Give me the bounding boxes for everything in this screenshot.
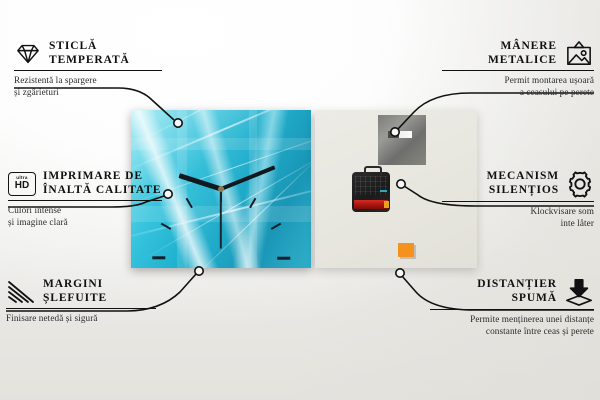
connector-dot-hq-print [164, 190, 172, 198]
beveled-edge-icon [6, 280, 36, 304]
feature-title-line: ȘLEFUITE [43, 292, 107, 306]
feature-title-line: MÂNERE [488, 40, 557, 54]
feature-rule [442, 70, 594, 71]
feature-subtitle-line: Permite menținerea unei distanțe [430, 313, 594, 325]
feature-subtitle-line: și zgârieturi [14, 86, 162, 98]
diamond-icon [14, 43, 42, 65]
feature-subtitle-line: Klockvisare som [442, 205, 594, 217]
feature-subtitle-line: Culori intense [8, 204, 162, 216]
feature-tempered-glass: STICLĂ TEMPERATĂ Rezistentă la spargere … [14, 40, 162, 98]
feature-subtitle-line: Rezistentă la spargere [14, 74, 162, 86]
gear-icon [566, 170, 594, 198]
feature-title-line: ÎNALTĂ CALITATE [43, 184, 161, 198]
feature-rule [14, 70, 162, 71]
feature-title-line: TEMPERATĂ [49, 54, 130, 68]
connector-dot-metal-handles [391, 128, 399, 136]
feature-subtitle-line: constante între ceas și perete [430, 325, 594, 337]
feature-silent-mechanism: MECANISM SILENȚIOS Klockvisare som inte … [442, 170, 594, 229]
feature-title-line: MARGINI [43, 278, 107, 292]
feature-title-line: IMPRIMARE DE [43, 170, 161, 184]
infographic-canvas: STICLĂ TEMPERATĂ Rezistentă la spargere … [0, 0, 600, 400]
feature-rule [430, 309, 594, 310]
feature-title-line: MECANISM [487, 170, 559, 184]
ultra-hd-badge-icon: ultra HD [8, 172, 36, 196]
feature-foam-spacer: DISTANȚIER SPUMĂ Permite menținerea unei… [430, 278, 594, 337]
feature-rule [442, 201, 594, 202]
feature-title-line: STICLĂ [49, 40, 130, 54]
feature-rule [8, 200, 162, 201]
connector-dot-polished-edges [195, 267, 203, 275]
feature-title-line: DISTANȚIER [477, 278, 557, 292]
connector-dot-foam-spacer [396, 269, 404, 277]
feature-subtitle-line: și imagine clară [8, 216, 162, 228]
feature-title-line: SILENȚIOS [487, 184, 559, 198]
hd-label: HD [15, 181, 29, 191]
feature-rule [6, 308, 156, 309]
hanging-frame-icon [564, 41, 594, 67]
feature-subtitle-line: inte låter [442, 217, 594, 229]
feature-high-quality-print: ultra HD IMPRIMARE DE ÎNALTĂ CALITATE Cu… [8, 170, 162, 228]
feature-subtitle-line: a ceasului pe perete [442, 86, 594, 98]
feature-subtitle-line: Permit montarea ușoară [442, 74, 594, 86]
feature-title-line: METALICE [488, 54, 557, 68]
arrow-down-layer-icon [564, 278, 594, 306]
feature-subtitle-line: Finisare netedă și sigură [6, 312, 156, 324]
feature-metal-handles: MÂNERE METALICE Permit montarea ușoară a… [442, 40, 594, 98]
connector-dot-silent-mechanism [397, 180, 405, 188]
feature-polished-edges: MARGINI ȘLEFUITE Finisare netedă și sigu… [6, 278, 156, 324]
connector-dot-tempered-glass [174, 119, 182, 127]
feature-title-line: SPUMĂ [477, 292, 557, 306]
